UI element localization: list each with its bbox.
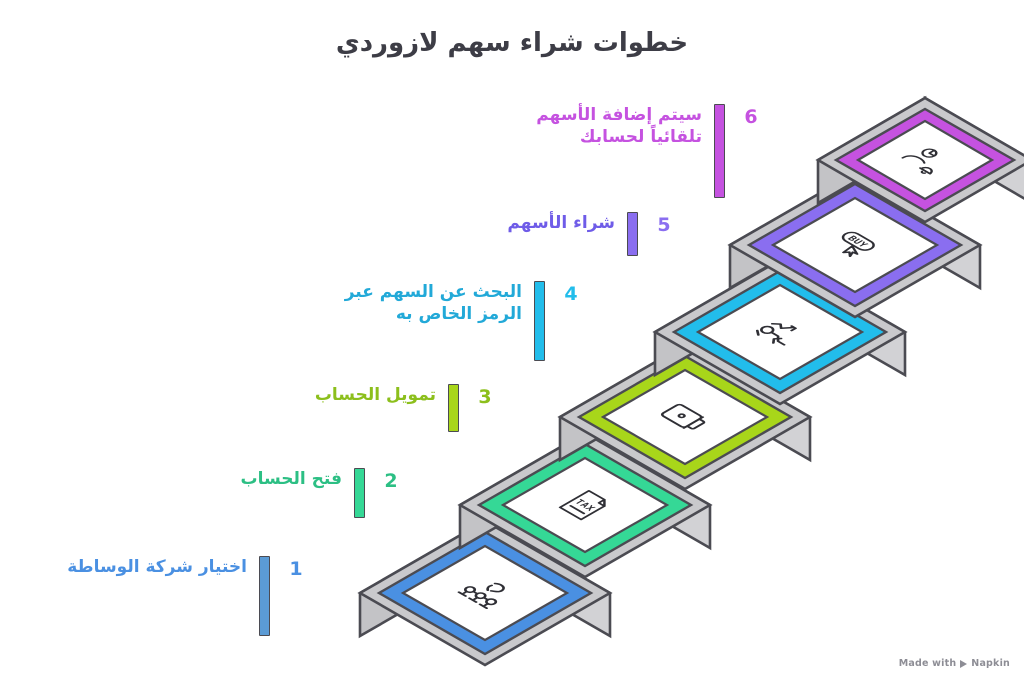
step-text-1: اختيار شركة الوساطة xyxy=(62,556,247,578)
step-text-6: سيتم إضافة الأسهم تلقائياً لحسابك xyxy=(517,104,702,149)
step-bar-2 xyxy=(354,468,365,518)
step-bar-6 xyxy=(714,104,725,198)
step-number-5: 5 xyxy=(645,212,683,235)
step-label-5: 5 شراء الأسهم xyxy=(393,212,683,256)
step-bar-5 xyxy=(627,212,638,256)
step-number-2: 2 xyxy=(372,468,410,491)
step-text-3: تمويل الحساب xyxy=(251,384,436,406)
step-label-2: 2 فتح الحساب xyxy=(120,468,410,518)
step-label-1: 1 اختيار شركة الوساطة xyxy=(25,556,315,636)
step-number-3: 3 xyxy=(466,384,504,407)
step-number-4: 4 xyxy=(552,281,590,304)
play-triangle-icon xyxy=(960,660,967,668)
step-label-6: 6 سيتم إضافة الأسهم تلقائياً لحسابك xyxy=(480,104,770,198)
step-text-4: البحث عن السهم عبر الرمز الخاص به xyxy=(337,281,522,326)
step-text-2: فتح الحساب xyxy=(157,468,342,490)
watermark: Made with Napkin xyxy=(899,658,1010,669)
step-label-3: 3 تمويل الحساب xyxy=(214,384,504,432)
step-label-4: 4 البحث عن السهم عبر الرمز الخاص به xyxy=(300,281,590,361)
infographic-canvas: خطوات شراء سهم لازوردي xyxy=(0,0,1024,683)
step-number-1: 1 xyxy=(277,556,315,579)
step-bar-3 xyxy=(448,384,459,432)
step-bar-1 xyxy=(259,556,270,636)
watermark-brand: Napkin xyxy=(971,658,1010,669)
watermark-prefix: Made with xyxy=(899,658,957,669)
step-bar-4 xyxy=(534,281,545,361)
step-number-6: 6 xyxy=(732,104,770,127)
step-text-5: شراء الأسهم xyxy=(430,212,615,234)
